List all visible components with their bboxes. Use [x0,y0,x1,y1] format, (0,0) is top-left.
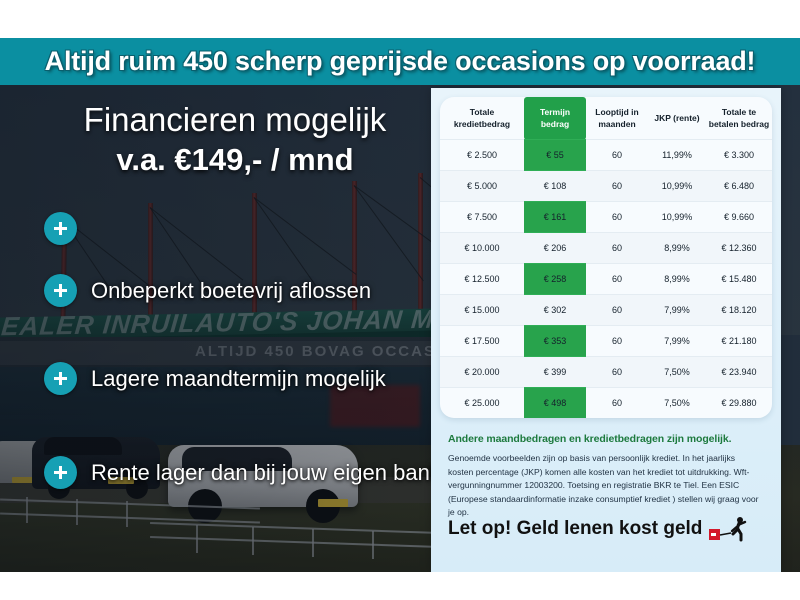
cell-totaal: € 21.180 [706,326,772,357]
cell-jkp: 10,99% [648,202,706,233]
cell-jkp: 7,99% [648,295,706,326]
plus-icon [44,274,77,307]
table-row: € 25.000 € 498 60 7,50% € 29.880 [440,388,772,419]
cell-krediet: € 12.500 [440,264,524,295]
table-row: € 7.500 € 161 60 10,99% € 9.660 [440,202,772,233]
cell-jkp: 7,99% [648,326,706,357]
cell-totaal: € 23.940 [706,357,772,388]
cell-jkp: 10,99% [648,171,706,202]
rate-table-card: Totale kredietbedrag Termijn bedrag Loop… [440,97,772,418]
cell-krediet: € 15.000 [440,295,524,326]
cell-krediet: € 20.000 [440,357,524,388]
column-header-jkp: JKP (rente) [648,97,706,140]
promo-banner: Altijd ruim 450 scherp geprijsde occasio… [0,38,800,85]
bottom-white-band [0,572,800,600]
cell-totaal: € 3.300 [706,140,772,171]
table-row: € 12.500 € 258 60 8,99% € 15.480 [440,264,772,295]
warning-block: Let op! Geld lenen kost geld [448,516,750,542]
plus-icon [44,456,77,489]
cell-termijn: € 302 [524,295,586,326]
cell-totaal: € 9.660 [706,202,772,233]
cell-termijn: € 498 [524,388,586,419]
cell-jkp: 7,50% [648,357,706,388]
cell-looptijd: 60 [586,295,648,326]
cell-looptijd: 60 [586,140,648,171]
feature-item-label: Rente lager dan bij jouw eigen bank [91,460,441,486]
cell-termijn: € 258 [524,264,586,295]
cell-totaal: € 29.880 [706,388,772,419]
table-row: € 17.500 € 353 60 7,99% € 21.180 [440,326,772,357]
advertisement-banner: DEALER INRUILAUTO'S JOHAN MEURE ALTIJD 4… [0,0,800,600]
table-row: € 2.500 € 55 60 11,99% € 3.300 [440,140,772,171]
cell-jkp: 7,50% [648,388,706,419]
financing-info-panel: Totale kredietbedrag Termijn bedrag Loop… [431,88,781,572]
debt-runner-icon [708,516,750,542]
table-row: € 15.000 € 302 60 7,99% € 18.120 [440,295,772,326]
cell-looptijd: 60 [586,171,648,202]
cell-jkp: 8,99% [648,264,706,295]
cell-looptijd: 60 [586,233,648,264]
rate-table: Totale kredietbedrag Termijn bedrag Loop… [440,97,772,418]
cell-termijn: € 353 [524,326,586,357]
feature-item-label: Onbeperkt boetevrij aflossen [91,278,371,304]
cell-looptijd: 60 [586,357,648,388]
cell-krediet: € 10.000 [440,233,524,264]
column-header-totaal: Totale te betalen bedrag [706,97,772,140]
cell-termijn: € 399 [524,357,586,388]
top-white-band [0,0,800,38]
table-row: € 10.000 € 206 60 8,99% € 12.360 [440,233,772,264]
feature-item-2: Rente lager dan bij jouw eigen bank [44,456,441,489]
table-row: € 20.000 € 399 60 7,50% € 23.940 [440,357,772,388]
cell-totaal: € 6.480 [706,171,772,202]
plus-icon [44,362,77,395]
cell-krediet: € 2.500 [440,140,524,171]
table-header-row: Totale kredietbedrag Termijn bedrag Loop… [440,97,772,140]
feature-item-label: Lagere maandtermijn mogelijk [91,366,386,392]
rate-table-body: € 2.500 € 55 60 11,99% € 3.300 € 5.000 €… [440,140,772,419]
table-row: € 5.000 € 108 60 10,99% € 6.480 [440,171,772,202]
feature-item-1: Lagere maandtermijn mogelijk [44,362,386,395]
column-header-krediet: Totale kredietbedrag [440,97,524,140]
cell-termijn: € 55 [524,140,586,171]
warning-text: Let op! Geld lenen kost geld [448,518,702,540]
cell-krediet: € 5.000 [440,171,524,202]
cell-totaal: € 18.120 [706,295,772,326]
headline-secondary: v.a. €149,- / mnd [40,140,430,180]
column-header-termijn: Termijn bedrag [524,97,586,140]
cell-looptijd: 60 [586,388,648,419]
cell-totaal: € 15.480 [706,264,772,295]
cell-termijn: € 161 [524,202,586,233]
cell-termijn: € 108 [524,171,586,202]
cell-krediet: € 25.000 [440,388,524,419]
note-body: Genoemde voorbeelden zijn op basis van p… [448,452,760,520]
headline-primary: Financieren mogelijk [40,100,430,140]
cell-krediet: € 7.500 [440,202,524,233]
column-header-looptijd: Looptijd in maanden [586,97,648,140]
cell-jkp: 11,99% [648,140,706,171]
promo-banner-text: Altijd ruim 450 scherp geprijsde occasio… [45,46,756,77]
cell-looptijd: 60 [586,264,648,295]
cell-termijn: € 206 [524,233,586,264]
feature-item-0: Onbeperkt boetevrij aflossen [44,274,371,307]
cell-looptijd: 60 [586,326,648,357]
cell-totaal: € 12.360 [706,233,772,264]
plus-icon [44,212,77,245]
cell-krediet: € 17.500 [440,326,524,357]
note-title: Andere maandbedragen en kredietbedragen … [448,433,764,445]
cell-looptijd: 60 [586,202,648,233]
headline-block: Financieren mogelijk v.a. €149,- / mnd [40,100,430,180]
feature-list: Financieren mogelijk v.a. €149,- / mnd O… [0,85,430,572]
cell-jkp: 8,99% [648,233,706,264]
